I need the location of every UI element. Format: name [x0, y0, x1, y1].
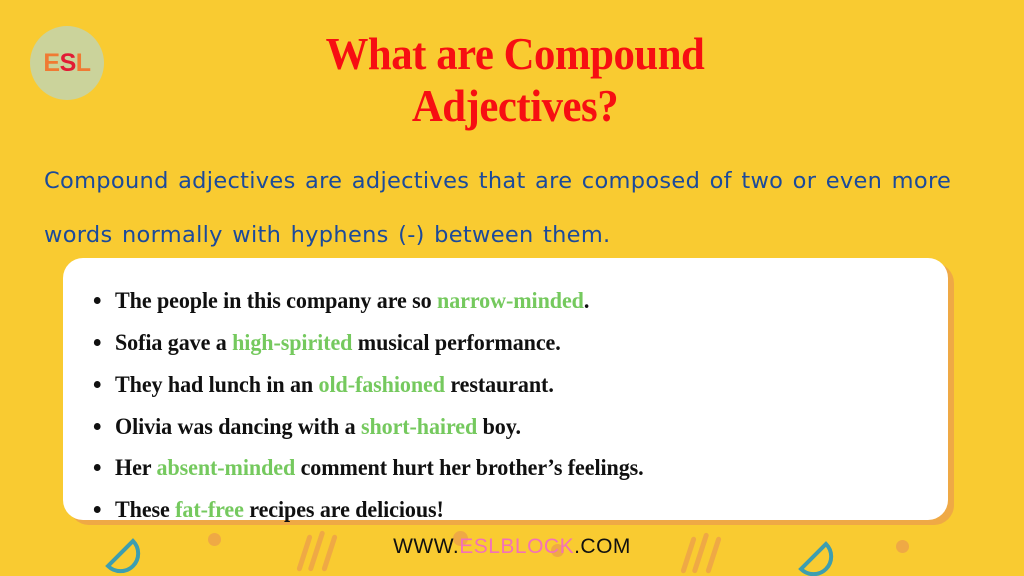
- example-text-after: restaurant.: [445, 372, 554, 397]
- list-item: Olivia was dancing with a short-haired b…: [115, 406, 915, 448]
- list-item: Her absent-minded comment hurt her broth…: [115, 447, 915, 489]
- example-text-before: Olivia was dancing with a: [115, 414, 361, 439]
- list-item: Sofia gave a high-spirited musical perfo…: [115, 322, 915, 364]
- logo-letter-s: S: [60, 49, 76, 77]
- examples-card: The people in this company are so narrow…: [63, 258, 948, 520]
- page-title-line-1: What are Compound: [326, 28, 705, 79]
- example-text-after: recipes are delicious!: [244, 497, 444, 522]
- example-text-after: musical performance.: [352, 330, 560, 355]
- page-title-line-2: Adjectives?: [412, 80, 618, 131]
- slide-canvas: ESL What are Compound Adjectives? Compou…: [0, 0, 1024, 576]
- esl-logo: ESL: [30, 26, 104, 100]
- example-text-after: boy.: [477, 414, 521, 439]
- intro-paragraph: Compound adjectives are adjectives that …: [44, 154, 980, 263]
- example-compound-adjective: short-haired: [361, 414, 477, 439]
- footer-prefix: WWW.: [393, 535, 459, 558]
- example-compound-adjective: absent-minded: [157, 455, 296, 480]
- examples-list: The people in this company are so narrow…: [63, 258, 948, 531]
- example-text-before: Sofia gave a: [115, 330, 232, 355]
- example-text-before: Her: [115, 455, 157, 480]
- example-text-after: comment hurt her brother’s feelings.: [295, 455, 643, 480]
- example-text-before: The people in this company are so: [115, 288, 437, 313]
- footer-website: WWW.ESLBLOCK.COM: [0, 535, 1024, 559]
- example-compound-adjective: narrow-minded: [437, 288, 584, 313]
- footer-brand: ESLBLOCK: [459, 535, 574, 558]
- list-item: These fat-free recipes are delicious!: [115, 489, 915, 531]
- example-compound-adjective: fat-free: [175, 497, 244, 522]
- list-item: The people in this company are so narrow…: [115, 280, 915, 322]
- page-title: What are Compound Adjectives?: [166, 28, 864, 131]
- example-text-before: These: [115, 497, 175, 522]
- logo-letter-l: L: [76, 49, 91, 77]
- example-compound-adjective: high-spirited: [232, 330, 352, 355]
- footer-suffix: .COM: [574, 535, 631, 558]
- logo-letter-e: E: [43, 49, 59, 77]
- example-text-before: They had lunch in an: [115, 372, 319, 397]
- list-item: They had lunch in an old-fashioned resta…: [115, 364, 915, 406]
- example-text-after: .: [584, 288, 589, 313]
- esl-logo-text: ESL: [43, 51, 90, 76]
- example-compound-adjective: old-fashioned: [319, 372, 445, 397]
